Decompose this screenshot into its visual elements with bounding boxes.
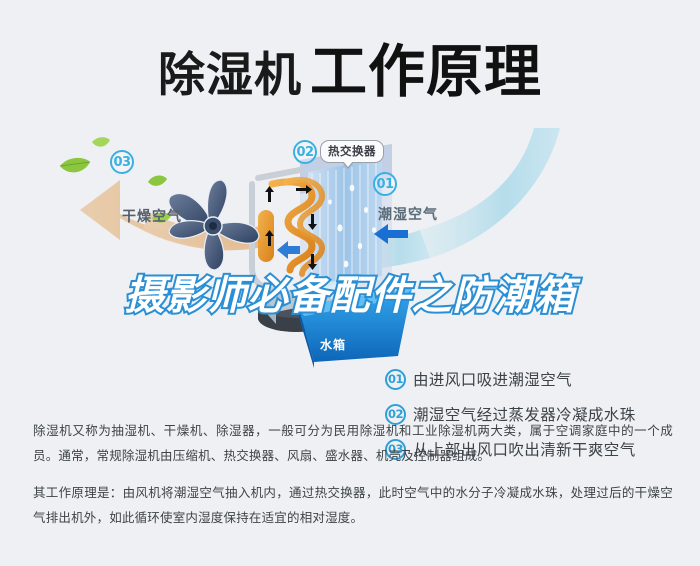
description-paragraph-2: 其工作原理是：由风机将潮湿空气抽入机内，通过热交换器，此时空气中的水分子冷凝成水…: [33, 480, 673, 530]
description-block: 除湿机又称为抽湿机、干燥机、除湿器，一般可分为民用除湿机和工业除湿机两大类，属于…: [33, 418, 673, 542]
humid-air-label: 潮湿空气: [378, 204, 438, 224]
marker-02: 02: [293, 140, 317, 164]
heat-exchanger-callout: 热交换器: [320, 140, 384, 163]
legend-item: 01 由进风口吸进潮湿空气: [385, 368, 685, 390]
infographic-page: 除湿机工作原理: [0, 0, 700, 566]
legend-badge-01: 01: [385, 369, 406, 390]
watermark-overlay: 摄影师必备配件之防潮箱: [0, 263, 700, 321]
marker-01: 01: [373, 172, 397, 196]
dehumidifier-diagram: 03 02 01 热交换器 干燥空气 潮湿空气 水箱 01 由进风口吸进潮湿空气…: [0, 118, 700, 403]
water-tank-label: 水箱: [320, 336, 346, 353]
page-title: 除湿机工作原理: [0, 26, 700, 108]
description-paragraph-1: 除湿机又称为抽湿机、干燥机、除湿器，一般可分为民用除湿机和工业除湿机两大类，属于…: [33, 418, 673, 468]
legend-text-01: 由进风口吸进潮湿空气: [413, 368, 572, 390]
marker-03: 03: [110, 150, 134, 174]
dry-air-label: 干燥空气: [122, 206, 182, 226]
watermark-text: 摄影师必备配件之防潮箱: [125, 273, 576, 319]
title-part-2: 工作原理: [310, 39, 542, 105]
fan-illustration: [169, 180, 259, 270]
title-part-1: 除湿机: [158, 48, 302, 103]
